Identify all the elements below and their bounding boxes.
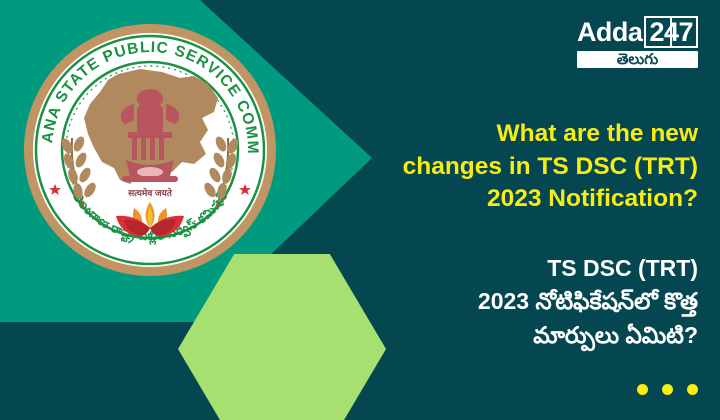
- headline-en-line-3: 2023 Notification?: [278, 183, 698, 216]
- promo-banner: TELANGANA STATE PUBLIC SERVICE COMMISSIO…: [0, 0, 720, 420]
- tspsc-seal-logo: TELANGANA STATE PUBLIC SERVICE COMMISSIO…: [22, 22, 278, 278]
- headline-te-line-2: 2023 నోటిఫికేషన్‌లో కొత్త: [268, 285, 698, 318]
- headline-te-line-3: మార్పులు ఏమిటి?: [268, 319, 698, 352]
- headline-te-line-1: TS DSC (TRT): [268, 252, 698, 285]
- dot-2: [662, 384, 673, 395]
- headline-en-line-1: What are the new: [278, 118, 698, 151]
- headline-english: What are the new changes in TS DSC (TRT)…: [278, 118, 698, 216]
- brand-number: 247: [644, 16, 698, 48]
- decorative-dot-group: [637, 384, 698, 395]
- brand-word: Adda: [577, 19, 643, 46]
- adda247-wordmark: Adda247: [577, 16, 698, 48]
- headline-en-line-2: changes in TS DSC (TRT): [278, 151, 698, 184]
- brand-language-label: తెలుగు: [577, 51, 698, 68]
- dot-3: [687, 384, 698, 395]
- headline-telugu: TS DSC (TRT) 2023 నోటిఫికేషన్‌లో కొత్త మ…: [268, 252, 698, 352]
- adda247-logo: Adda247 తెలుగు: [577, 16, 698, 68]
- dot-1: [637, 384, 648, 395]
- seal-motto: सत्यमेव जयते: [127, 187, 173, 198]
